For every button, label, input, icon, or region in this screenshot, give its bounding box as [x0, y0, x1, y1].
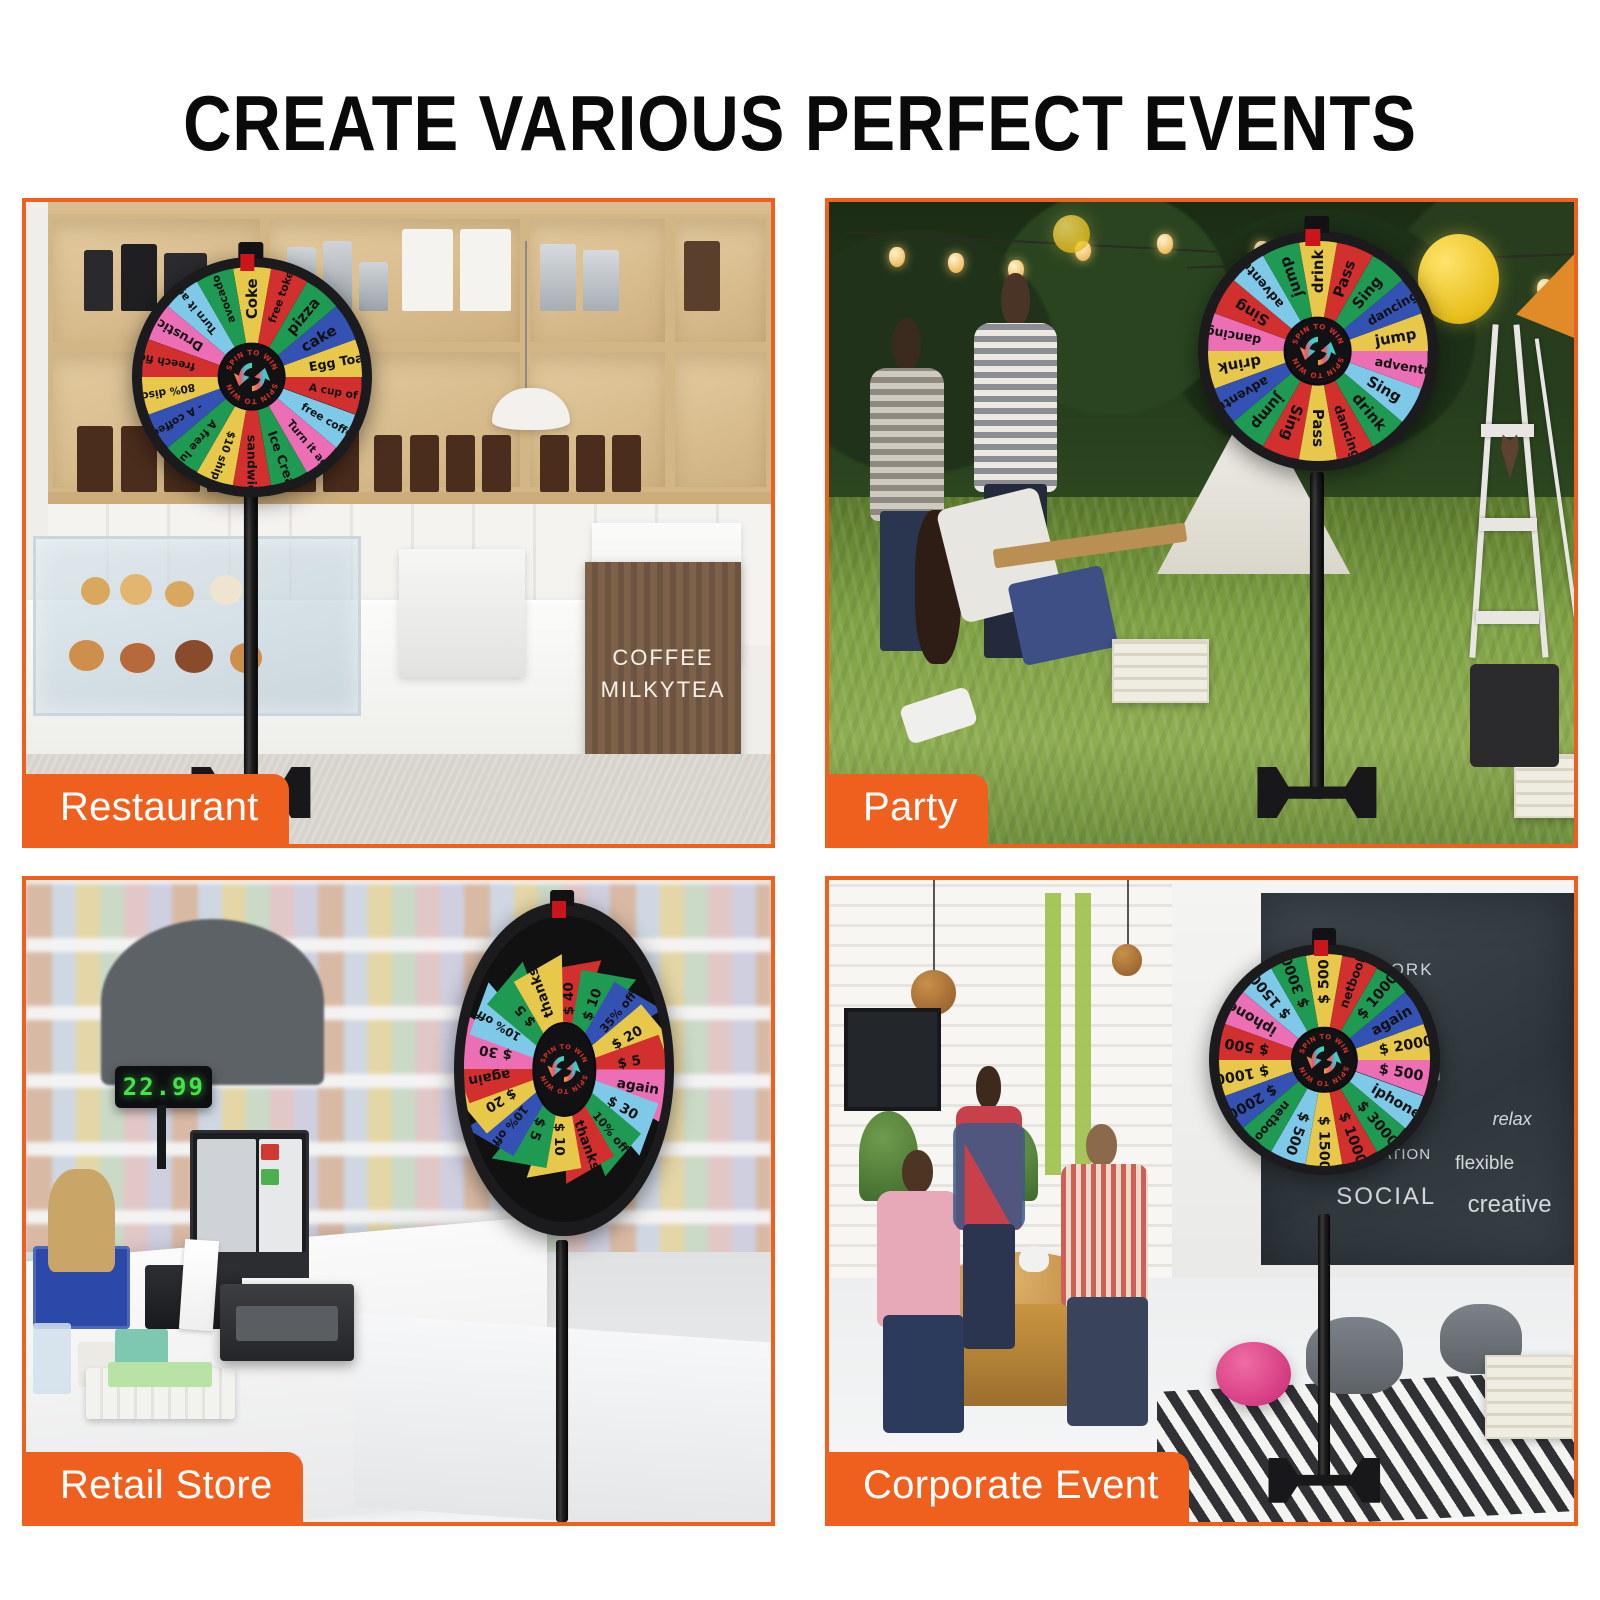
- panel-corporate-event: TEAMWORK Community WORKING THINK MOTIVAT…: [825, 876, 1578, 1526]
- wheel-stand: [829, 880, 1574, 1522]
- panel-badge-party: Party: [829, 774, 988, 844]
- wheel-pointer: [238, 242, 263, 272]
- wheel-hub[interactable]: SPIN TO WINSPIN TO WIN: [219, 344, 284, 409]
- wheel-pointer: [1304, 216, 1329, 246]
- wheel-stand: [829, 202, 1574, 844]
- page-title: CREATE VARIOUS PERFECT EVENTS: [112, 78, 1488, 169]
- retail-scene: 22.99 $ 40$ 10: [26, 880, 771, 1522]
- wheel-hub[interactable]: SPIN TO WINSPIN TO WIN: [1293, 1029, 1355, 1091]
- wheel-pointer: [550, 890, 574, 918]
- wheel-hub[interactable]: SPIN TO WINSPIN TO WIN: [1285, 319, 1350, 384]
- stand-pole: [1318, 1214, 1330, 1484]
- wheel-pointer: [1313, 928, 1337, 956]
- stand-pole: [244, 484, 258, 799]
- restaurant-scene: COFFEE MILKYTEA Cokefree token clubpizza…: [26, 202, 771, 844]
- stand-pole: [1310, 472, 1324, 799]
- wheel-segment-label: sandwich: [244, 435, 259, 487]
- product-infographic: CREATE VARIOUS PERFECT EVENTS: [0, 0, 1600, 1600]
- panel-restaurant: COFFEE MILKYTEA Cokefree token clubpizza…: [22, 198, 775, 848]
- panel-party: drinkPassSingdancingjumpadventureSingdri…: [825, 198, 1578, 848]
- wheel-segment-label: $ 10: [552, 1123, 568, 1156]
- wheel-stand: [26, 202, 771, 844]
- prize-wheel-restaurant[interactable]: Cokefree token clubpizzacakeEgg ToastA c…: [132, 257, 372, 497]
- prize-wheel-party[interactable]: drinkPassSingdancingjumpadventureSingdri…: [1198, 231, 1438, 471]
- panel-badge-corporate-event: Corporate Event: [829, 1452, 1189, 1522]
- prize-wheel-corporate[interactable]: $ 500netbook$ 1000again$ 2000$ 500iphone…: [1209, 944, 1440, 1175]
- prize-wheel-retail[interactable]: $ 40$ 1035% off$ 20$ 5again$ 3010% offth…: [454, 902, 674, 1236]
- wheel-hub[interactable]: SPIN TO WINSPIN TO WIN: [535, 1024, 594, 1114]
- stand-pole: [556, 1240, 568, 1522]
- wheel-segment-label: $ 1500: [1316, 1116, 1332, 1166]
- corporate-scene: TEAMWORK Community WORKING THINK MOTIVAT…: [829, 880, 1574, 1522]
- wheel-segment-label: Pass: [1309, 409, 1327, 447]
- scene-grid: COFFEE MILKYTEA Cokefree token clubpizza…: [22, 198, 1578, 1570]
- party-scene: drinkPassSingdancingjumpadventureSingdri…: [829, 202, 1574, 844]
- panel-badge-restaurant: Restaurant: [26, 774, 289, 844]
- panel-retail-store: 22.99 $ 40$ 10: [22, 876, 775, 1526]
- panel-badge-retail-store: Retail Store: [26, 1452, 303, 1522]
